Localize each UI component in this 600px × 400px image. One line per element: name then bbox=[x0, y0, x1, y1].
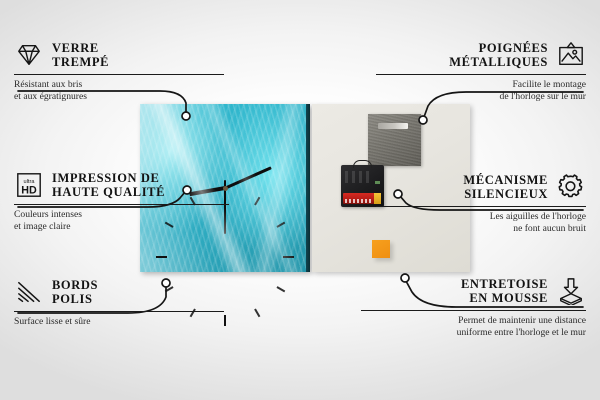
feature-title: MÉCANISME SILENCIEUX bbox=[463, 173, 548, 201]
mechanism-detail bbox=[345, 171, 371, 183]
feature-title: ENTRETOISE EN MOUSSE bbox=[461, 277, 548, 305]
feature-title-line2: POLIS bbox=[52, 292, 98, 306]
hour-tick bbox=[276, 222, 285, 228]
foam-spacer bbox=[372, 240, 390, 258]
battery-label bbox=[345, 199, 373, 203]
feature-header: POIGNÉES MÉTALLIQUES bbox=[376, 40, 586, 70]
feature-title: VERRE TREMPÉ bbox=[52, 41, 109, 69]
feature-subtitle-line1: Les aiguilles de l'horloge bbox=[376, 211, 586, 222]
feature-title-line1: MÉCANISME bbox=[463, 173, 548, 187]
feature-subtitle-line1: Couleurs intenses bbox=[14, 209, 229, 220]
clock-minute-hand bbox=[224, 166, 271, 189]
feature-divider bbox=[376, 74, 586, 75]
feature-title-line1: VERRE bbox=[52, 41, 109, 55]
bracket-slot bbox=[378, 123, 408, 129]
ultra-hd-icon: ultra HD bbox=[14, 170, 44, 200]
feature-subtitle-line1: Surface lisse et sûre bbox=[14, 316, 224, 327]
feature-title: BORDS POLIS bbox=[52, 278, 98, 306]
feature-divider bbox=[14, 311, 224, 312]
feature-header: BORDS POLIS bbox=[14, 277, 224, 307]
feature-divider bbox=[376, 206, 586, 207]
polished-edges-icon bbox=[14, 277, 44, 307]
feature-title-line2: EN MOUSSE bbox=[461, 291, 548, 305]
feature-subtitle-line2: et aux égratignures bbox=[14, 91, 224, 102]
metal-bracket bbox=[368, 114, 421, 166]
feature-title-line2: SILENCIEUX bbox=[463, 187, 548, 201]
feature-header: VERRE TREMPÉ bbox=[14, 40, 224, 70]
feature-title-line1: POIGNÉES bbox=[449, 41, 548, 55]
feature-title-line2: HAUTE QUALITÉ bbox=[52, 185, 165, 199]
mechanism-hook bbox=[353, 160, 372, 168]
feature-header: ultra HD IMPRESSION DE HAUTE QUALITÉ bbox=[14, 170, 229, 200]
feature-entretoise-en-mousse: ENTRETOISE EN MOUSSE Permet de maintenir… bbox=[361, 276, 586, 338]
feature-subtitle-line1: Facilite le montage bbox=[376, 79, 586, 90]
feature-subtitle-line2: ne font aucun bruit bbox=[376, 223, 586, 234]
foam-spacer-icon bbox=[556, 276, 586, 306]
feature-subtitle-line2: de l'horloge sur le mur bbox=[376, 91, 586, 102]
feature-divider bbox=[361, 310, 586, 311]
gear-icon bbox=[556, 172, 586, 202]
feature-title-line1: ENTRETOISE bbox=[461, 277, 548, 291]
product-infographic: VERRE TREMPÉ Résistant aux bris et aux é… bbox=[0, 0, 600, 400]
feature-mecanisme-silencieux: MÉCANISME SILENCIEUX Les aiguilles de l'… bbox=[376, 172, 586, 234]
feature-title: POIGNÉES MÉTALLIQUES bbox=[449, 41, 548, 69]
feature-subtitle-line2: et image claire bbox=[14, 221, 229, 232]
feature-divider bbox=[14, 74, 224, 75]
feature-subtitle-line1: Résistant aux bris bbox=[14, 79, 224, 90]
feature-subtitle-line1: Permet de maintenir une distance bbox=[361, 315, 586, 326]
feature-header: MÉCANISME SILENCIEUX bbox=[376, 172, 586, 202]
glass-edge bbox=[306, 104, 310, 272]
feature-title: IMPRESSION DE HAUTE QUALITÉ bbox=[52, 171, 165, 199]
feature-subtitle-line2: uniforme entre l'horloge et le mur bbox=[361, 327, 586, 338]
feature-title-line2: TREMPÉ bbox=[52, 55, 109, 69]
feature-divider bbox=[14, 204, 229, 205]
diamond-icon bbox=[14, 40, 44, 70]
hour-tick bbox=[283, 256, 294, 258]
hour-tick bbox=[277, 286, 286, 292]
feature-title-line1: IMPRESSION DE bbox=[52, 171, 165, 185]
feature-title-line2: MÉTALLIQUES bbox=[449, 55, 548, 69]
picture-frame-hanger-icon bbox=[556, 40, 586, 70]
feature-bords-polis: BORDS POLIS Surface lisse et sûre bbox=[14, 277, 224, 328]
feature-impression-haute-qualite: ultra HD IMPRESSION DE HAUTE QUALITÉ Cou… bbox=[14, 170, 229, 232]
feature-poignees-metalliques: POIGNÉES MÉTALLIQUES Facilite le montage… bbox=[376, 40, 586, 102]
hour-tick bbox=[156, 256, 167, 258]
feature-title-line1: BORDS bbox=[52, 278, 98, 292]
hour-tick bbox=[254, 308, 260, 317]
hour-tick bbox=[224, 315, 226, 326]
ultra-hd-icon-large-text: HD bbox=[21, 184, 37, 196]
feature-header: ENTRETOISE EN MOUSSE bbox=[361, 276, 586, 306]
feature-verre-trempe: VERRE TREMPÉ Résistant aux bris et aux é… bbox=[14, 40, 224, 102]
hour-tick bbox=[254, 197, 260, 206]
